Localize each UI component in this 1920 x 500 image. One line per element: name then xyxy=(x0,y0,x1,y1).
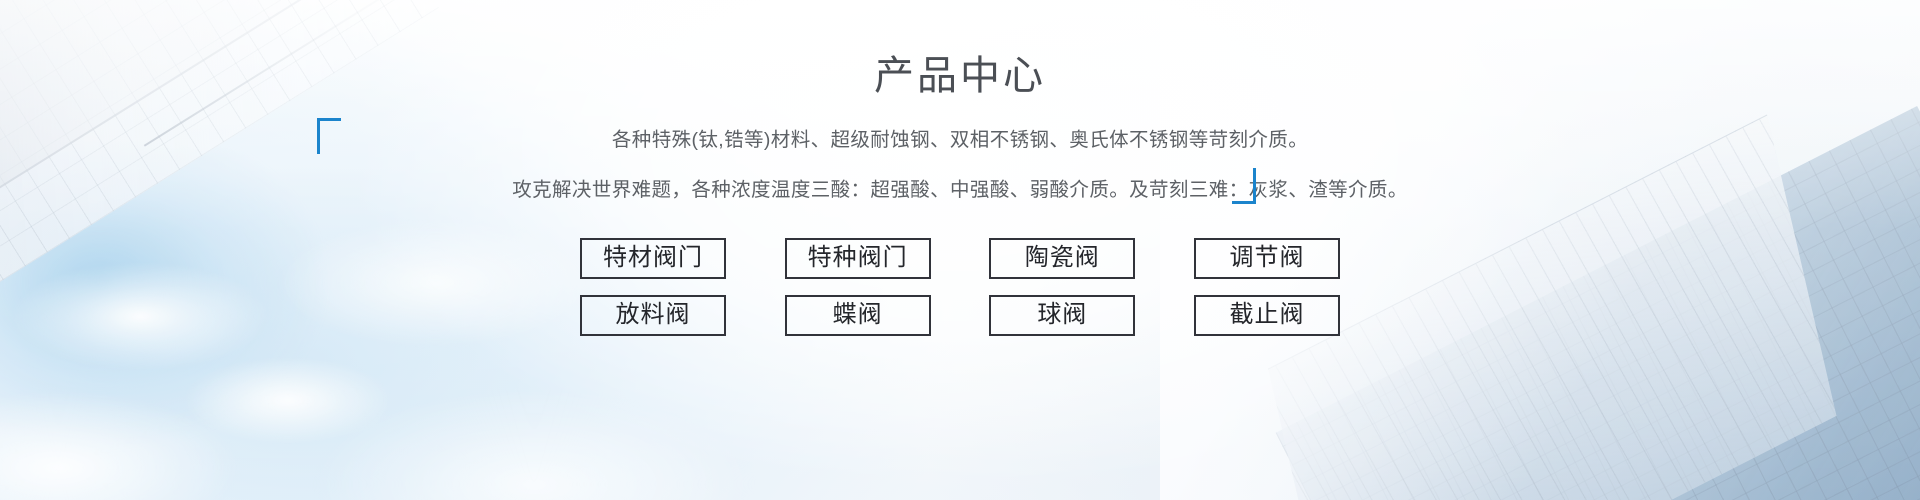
category-button-row-1: 特材阀门 特种阀门 陶瓷阀 调节阀 xyxy=(580,238,1340,279)
product-center-banner: 产品中心 各种特殊(钛,锆等)材料、超级耐蚀钢、双相不锈钢、奥氏体不锈钢等苛刻介… xyxy=(0,0,1920,500)
description-line-2: 攻克解决世界难题，各种浓度温度三酸：超强酸、中强酸、弱酸介质。及苛刻三难：灰浆、… xyxy=(0,175,1920,205)
category-button-tiaojie-fa[interactable]: 调节阀 xyxy=(1194,238,1340,279)
page-title: 产品中心 xyxy=(0,52,1920,100)
top-left-bracket-decoration xyxy=(317,118,341,154)
category-button-row-2: 放料阀 蝶阀 球阀 截止阀 xyxy=(580,295,1340,336)
category-button-die-fa[interactable]: 蝶阀 xyxy=(785,295,931,336)
category-button-tecai-famen[interactable]: 特材阀门 xyxy=(580,238,726,279)
bottom-right-bracket-decoration xyxy=(1232,168,1256,204)
banner-content: 产品中心 各种特殊(钛,锆等)材料、超级耐蚀钢、双相不锈钢、奥氏体不锈钢等苛刻介… xyxy=(0,0,1920,500)
description-line-1: 各种特殊(钛,锆等)材料、超级耐蚀钢、双相不锈钢、奥氏体不锈钢等苛刻介质。 xyxy=(0,125,1920,155)
category-button-grid: 特材阀门 特种阀门 陶瓷阀 调节阀 放料阀 蝶阀 球阀 截止阀 xyxy=(580,238,1340,336)
category-button-fangliao-fa[interactable]: 放料阀 xyxy=(580,295,726,336)
category-button-qiu-fa[interactable]: 球阀 xyxy=(989,295,1135,336)
category-button-taoci-fa[interactable]: 陶瓷阀 xyxy=(989,238,1135,279)
banner-description: 各种特殊(钛,锆等)材料、超级耐蚀钢、双相不锈钢、奥氏体不锈钢等苛刻介质。 攻克… xyxy=(0,125,1920,205)
category-button-jiezhi-fa[interactable]: 截止阀 xyxy=(1194,295,1340,336)
category-button-tezhong-famen[interactable]: 特种阀门 xyxy=(785,238,931,279)
